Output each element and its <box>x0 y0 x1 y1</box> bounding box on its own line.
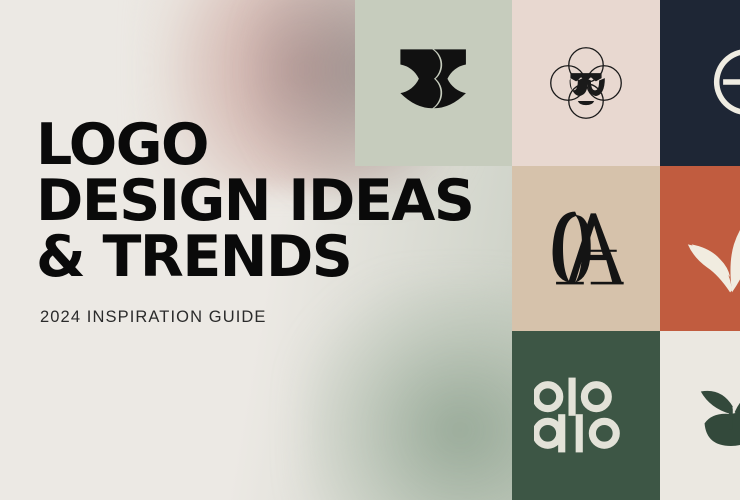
oa-serif-monogram-mark <box>537 202 641 294</box>
tile-leaf-flame[interactable] <box>660 166 740 331</box>
tile-serif-g[interactable] <box>660 0 740 166</box>
headline-line-2: DESIGN IDEAS <box>36 174 473 230</box>
quatrefoil-monogram-mark <box>545 42 627 124</box>
tile-sprout[interactable] <box>660 331 740 500</box>
headline-line-1: LOGO <box>36 118 473 174</box>
tile-oa-monogram[interactable] <box>512 166 660 331</box>
headline-line-3: & TRENDS <box>36 230 473 286</box>
tile-olodio[interactable] <box>512 331 660 500</box>
headline-block: LOGO DESIGN IDEAS & TRENDS 2024 INSPIRAT… <box>36 118 473 327</box>
serif-letter-g-mark <box>690 36 740 128</box>
poster-subtitle: 2024 INSPIRATION GUIDE <box>40 308 473 327</box>
tile-gradient-left-bottom <box>355 331 512 500</box>
tile-quatrefoil[interactable] <box>512 0 660 166</box>
olodio-wordmark <box>534 376 638 454</box>
logo-trends-poster: LOGO DESIGN IDEAS & TRENDS 2024 INSPIRAT… <box>0 0 740 500</box>
leaf-flame-mark <box>684 204 740 300</box>
sprout-berry-mark <box>682 367 740 461</box>
butterfly-petal-mark <box>392 41 476 125</box>
